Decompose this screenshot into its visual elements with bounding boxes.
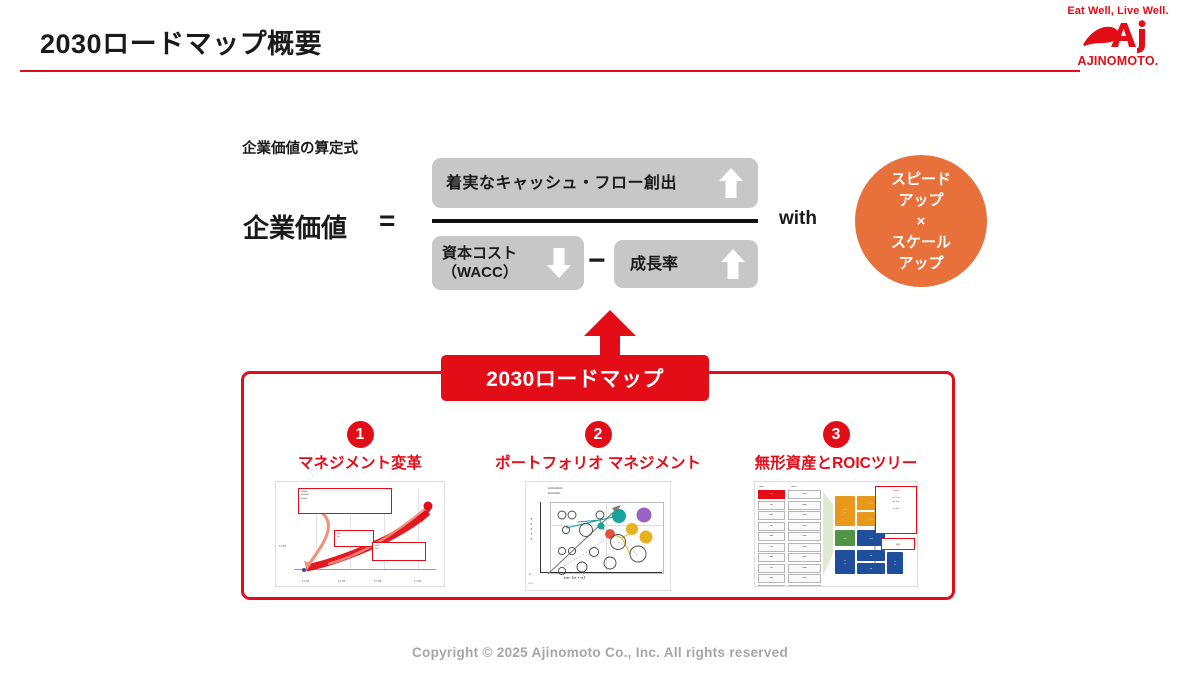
wacc-box: 資本コスト （WACC）	[432, 236, 584, 290]
chart-callout-right: ▪︎▪︎▪︎▪︎▪︎▪︎▪︎▪︎▪︎	[372, 542, 426, 561]
roic-block: ▪︎▪︎▪︎▪︎	[887, 552, 903, 574]
growth-chart-thumbnail[interactable]: ▪︎▪︎▪︎▪︎▪︎▪︎▪︎▪︎▪︎▪︎▪︎▪︎▪︎▪︎▪︎▪︎▪︎▪︎▪︎▪︎…	[275, 481, 445, 587]
roic-tree-thumbnail[interactable]: ▪︎▪︎▪︎▪︎▪︎▪︎ ▪︎▪︎▪︎▪︎▪︎▪︎▪︎ ▪︎▪︎▪︎ ▪︎▪︎▪…	[754, 481, 918, 587]
numerator-box: 着実なキャッシュ・フロー創出	[432, 158, 758, 208]
pillar-number-badge: 2	[585, 421, 612, 448]
formula-label: 企業価値の算定式	[242, 137, 358, 158]
roic-block: ▪︎▪︎▪︎▪︎	[835, 550, 855, 574]
page-title: 2030ロードマップ概要	[40, 22, 322, 61]
roic-block: ▪︎▪︎▪︎▪︎▪︎	[835, 496, 855, 526]
pillar-title: ポートフォリオ マネジメント	[495, 451, 701, 473]
x-axis-title: ▪︎▪︎▪︎▪︎（▪︎▪︎・▪︎▪︎）	[564, 575, 587, 581]
pillar-title: マネジメント変革	[298, 451, 422, 473]
circle-line-2: アップ	[898, 190, 943, 211]
formula-left-term: 企業価値	[243, 208, 347, 245]
roic-block: ▪︎▪︎▪︎	[857, 550, 885, 561]
with-label: with	[779, 208, 817, 230]
roic-block: ▪︎▪︎▪︎	[857, 563, 885, 574]
minus-sign: −	[588, 244, 606, 278]
roadmap-banner: 2030ロードマップ	[441, 355, 709, 401]
pillar-intangible-roic[interactable]: 3 無形資産とROICツリー ▪︎▪︎▪︎▪︎▪︎▪︎ ▪︎▪︎▪︎▪︎▪︎▪︎…	[717, 371, 955, 600]
arrow-up-icon	[720, 248, 746, 285]
roic-block: ▪︎▪︎▪︎	[835, 530, 855, 546]
arrow-up-icon	[718, 167, 744, 204]
wacc-label: 資本コスト （WACC）	[442, 244, 518, 282]
roic-result-badge: ▪︎▪︎▪︎▪︎	[881, 538, 915, 550]
y-axis-title: ▪︎▪︎▪︎▪︎▪︎	[529, 516, 534, 541]
title-divider	[20, 70, 1080, 72]
circle-line-1: スピード	[891, 169, 951, 190]
pillar-number-badge: 3	[823, 421, 850, 448]
circle-line-3: ×	[917, 211, 926, 232]
pillar-number-badge: 1	[347, 421, 374, 448]
speed-scale-circle: スピード アップ × スケール アップ	[855, 155, 987, 287]
chart-callout-mid: ▪︎▪︎▪︎▪︎▪︎▪︎▪︎	[334, 530, 374, 547]
value-result-callout: ▪︎▪︎▪︎▪︎▪︎▪︎ ▪︎▪︎▪︎ > ▪︎▪︎▪︎▪︎▪︎▪︎ × ▪︎▪…	[875, 486, 917, 534]
logo-wordmark: AJINOMOTO.	[1052, 55, 1184, 68]
numerator-label: 着実なキャッシュ・フロー創出	[446, 174, 677, 193]
pillar-portfolio-management[interactable]: 2 ポートフォリオ マネジメント ▪︎▪︎▪︎▪︎▪︎▪︎▪︎▪︎▪︎▪︎▪︎▪…	[479, 371, 717, 600]
growth-rate-label: 成長率	[630, 255, 678, 274]
portfolio-bubble-chart-thumbnail[interactable]: ▪︎▪︎▪︎▪︎▪︎▪︎▪︎▪︎▪︎▪︎▪︎▪︎▪︎▪︎▪︎▪︎▪︎▪︎▪︎▪︎…	[525, 481, 671, 591]
pillar-management-reform[interactable]: 1 マネジメント変革 ▪︎▪︎▪︎▪︎▪︎▪︎▪︎▪︎▪︎▪︎▪︎▪︎▪︎▪︎	[241, 371, 479, 600]
equals-sign: =	[379, 205, 395, 237]
copyright-footer: Copyright © 2025 Ajinomoto Co., Inc. All…	[0, 645, 1200, 660]
pillars-row: 1 マネジメント変革 ▪︎▪︎▪︎▪︎▪︎▪︎▪︎▪︎▪︎▪︎▪︎▪︎▪︎▪︎	[241, 371, 955, 600]
arrow-down-icon	[546, 247, 572, 284]
circle-line-5: アップ	[898, 253, 943, 274]
pillar-title: 無形資産とROICツリー	[755, 451, 918, 473]
ajinomoto-logo: Eat Well, Live Well. AJINOMOTO.	[1052, 4, 1184, 74]
growth-rate-box: 成長率	[614, 240, 758, 288]
circle-line-4: スケール	[891, 232, 951, 253]
aj-logo-icon	[1052, 19, 1184, 55]
slide-root: 2030ロードマップ概要 Eat Well, Live Well. AJINOM…	[0, 0, 1200, 673]
fraction-bar	[432, 219, 758, 223]
logo-tagline: Eat Well, Live Well.	[1052, 4, 1184, 18]
chart-callout-main: ▪︎▪︎▪︎▪︎▪︎▪︎▪︎▪︎▪︎▪︎▪︎▪︎▪︎▪︎▪︎▪︎▪︎▪︎▪︎▪︎…	[298, 488, 392, 514]
